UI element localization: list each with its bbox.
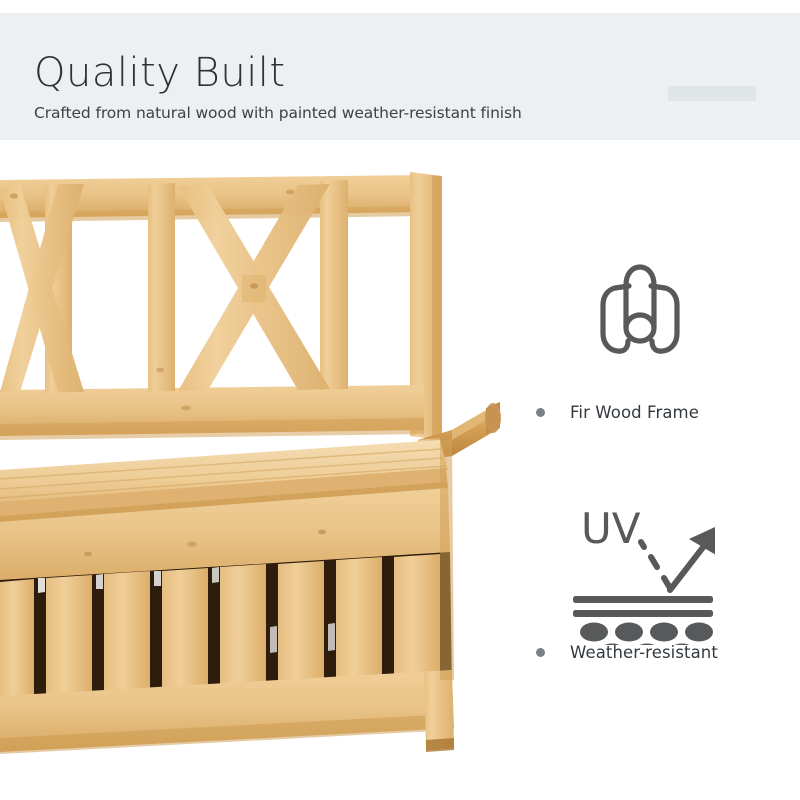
bullet-icon xyxy=(536,408,545,417)
product-image-bench xyxy=(0,140,520,800)
uv-text: UV xyxy=(581,504,641,553)
feature-label-weather-resistant: Weather-resistant xyxy=(570,643,718,662)
bench-illustration xyxy=(0,140,520,800)
page-title: Quality Built xyxy=(34,53,286,93)
bullet-icon xyxy=(536,648,545,657)
logs-icon xyxy=(585,255,695,370)
header-band: Quality Built Crafted from natural wood … xyxy=(0,13,800,140)
page-subtitle: Crafted from natural wood with painted w… xyxy=(34,106,522,122)
feature-label-row-weather-resistant: Weather-resistant xyxy=(536,643,718,662)
feature-label-row-fir-wood-frame: Fir Wood Frame xyxy=(536,403,699,422)
product-feature-panel: Quality Built Crafted from natural wood … xyxy=(0,0,800,800)
uv-protection-icon: UV xyxy=(565,495,715,650)
header-placeholder-bar xyxy=(668,86,756,101)
feature-label-fir-wood-frame: Fir Wood Frame xyxy=(570,403,699,422)
